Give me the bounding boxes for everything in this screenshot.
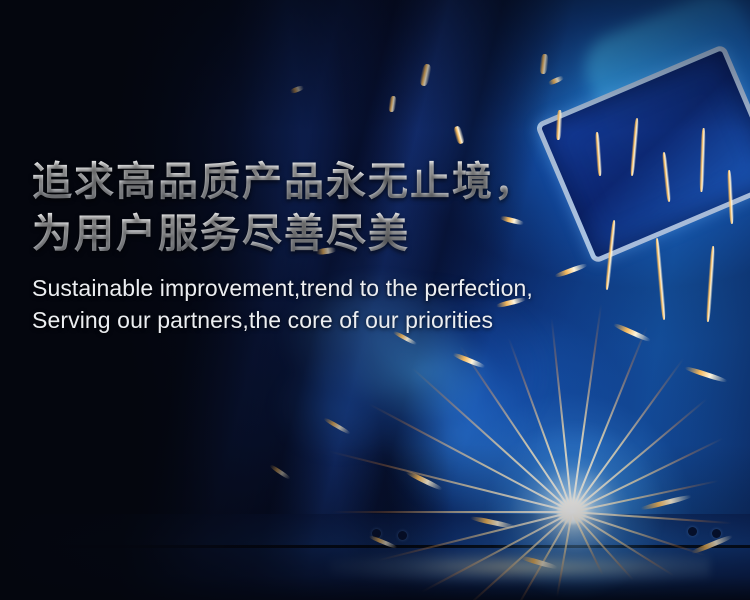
bolt-hole bbox=[712, 529, 721, 538]
headline-cn-line-2: 为用户服务尽善尽美 bbox=[32, 210, 722, 258]
bolt-hole bbox=[688, 527, 697, 536]
welding-hero-banner: 追求高品质产品永无止境， 为用户服务尽善尽美 Sustainable impro… bbox=[0, 0, 750, 600]
headline-cn-line-1: 追求高品质产品永无止境， bbox=[32, 158, 722, 206]
bolt-hole bbox=[372, 529, 381, 538]
bolt-hole bbox=[398, 531, 407, 540]
slogan-copy: 追求高品质产品永无止境， 为用户服务尽善尽美 Sustainable impro… bbox=[32, 158, 722, 336]
subhead-en-line-1: Sustainable improvement,trend to the per… bbox=[32, 272, 722, 304]
subhead-en-line-2: Serving our partners,the core of our pri… bbox=[32, 304, 722, 336]
welding-arc-core bbox=[557, 498, 587, 524]
